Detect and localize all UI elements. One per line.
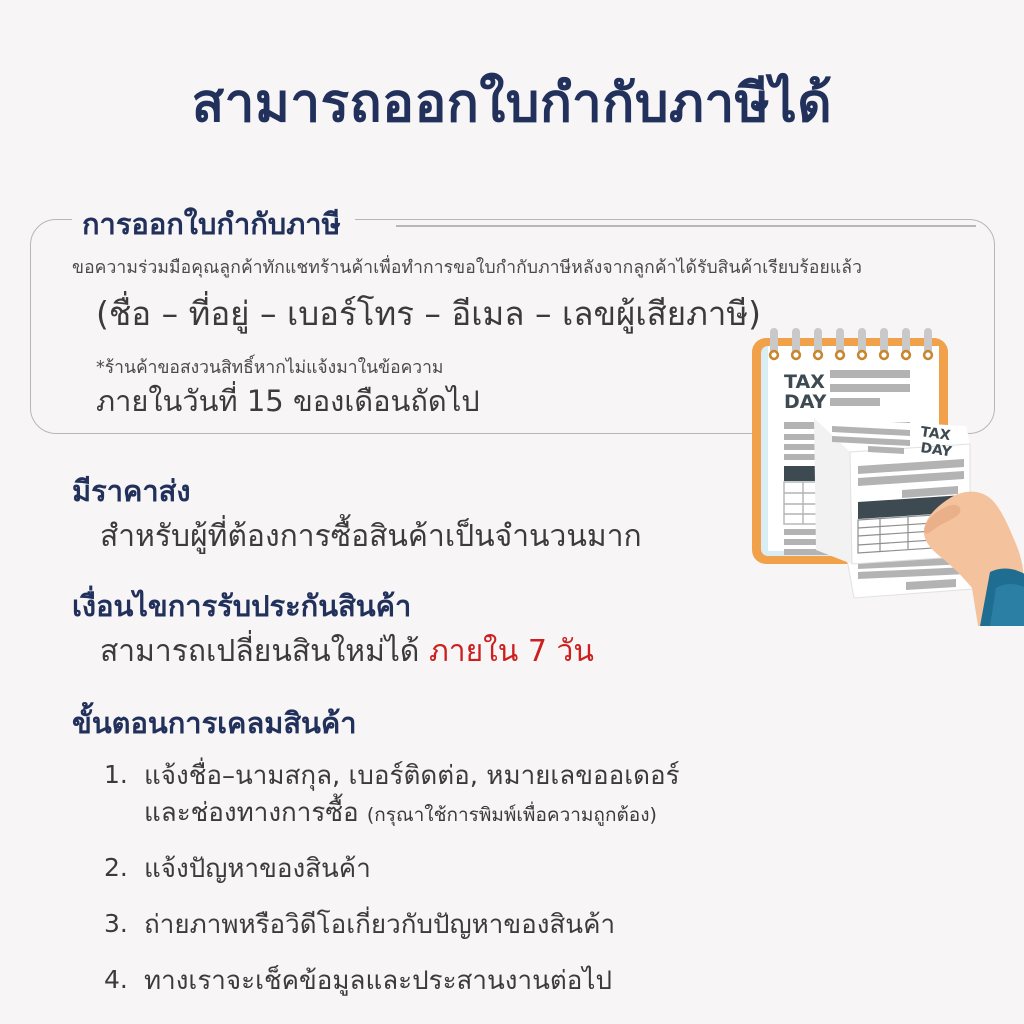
list-item-number: 3. — [104, 907, 144, 944]
claim-steps-list: 1. แจ้งชื่อ–นามสกุล, เบอร์ติดต่อ, หมายเล… — [104, 758, 744, 1019]
list-item: 4. ทางเราจะเช็คข้อมูลและประสานงานต่อไป — [104, 963, 744, 1000]
list-item: 1. แจ้งชื่อ–นามสกุล, เบอร์ติดต่อ, หมายเล… — [104, 758, 744, 832]
box-heading-rule — [396, 225, 976, 227]
tax-invoice-fields: (ชื่อ – ที่อยู่ – เบอร์โทร – อีเมล – เลข… — [96, 293, 761, 336]
section-claim: ขั้นตอนการเคลมสินค้า — [72, 705, 357, 743]
list-item-text: แจ้งชื่อ–นามสกุล, เบอร์ติดต่อ, หมายเลขออ… — [144, 758, 680, 832]
tax-invoice-deadline: ภายในวันที่ 15 ของเดือนถัดไป — [96, 383, 480, 421]
warranty-body-highlight: ภายใน 7 วัน — [429, 634, 594, 669]
list-item-line2-main: และช่องทางการซื้อ — [144, 798, 359, 828]
list-item-text: ทางเราจะเช็คข้อมูลและประสานงานต่อไป — [144, 963, 612, 1000]
list-item-line2: และช่องทางการซื้อ (กรุณาใช้การพิมพ์เพื่อ… — [144, 795, 680, 832]
list-item-number: 4. — [104, 963, 144, 1000]
tax-invoice-box-heading: การออกใบกำกับภาษี — [72, 206, 355, 244]
list-item: 2. แจ้งปัญหาของสินค้า — [104, 851, 744, 888]
notepad-tax-label: TAX — [784, 371, 825, 393]
infographic-canvas: สามารถออกใบกำกับภาษีได้ การออกใบกำกับภาษ… — [0, 0, 1024, 1024]
section-wholesale: มีราคาส่ง สำหรับผู้ที่ต้องการซื้อสินค้าเ… — [72, 473, 642, 557]
tax-invoice-note: ขอความร่วมมือคุณลูกค้าทักแชทร้านค้าเพื่อ… — [72, 256, 982, 281]
section-warranty-heading: เงื่อนไขการรับประกันสินค้า — [72, 588, 594, 626]
section-wholesale-heading: มีราคาส่ง — [72, 473, 642, 511]
list-item-note: (กรุณาใช้การพิมพ์เพื่อความถูกต้อง) — [367, 804, 657, 826]
list-item-line1: แจ้งชื่อ–นามสกุล, เบอร์ติดต่อ, หมายเลขออ… — [144, 758, 680, 795]
section-warranty: เงื่อนไขการรับประกันสินค้า สามารถเปลี่ยน… — [72, 588, 594, 672]
list-item-text: แจ้งปัญหาของสินค้า — [144, 851, 371, 888]
section-warranty-body: สามารถเปลี่ยนสินใหม่ได้ ภายใน 7 วัน — [100, 632, 594, 673]
section-wholesale-body: สำหรับผู้ที่ต้องการซื้อสินค้าเป็นจำนวนมา… — [100, 517, 642, 558]
tax-day-clipboard-illustration: TAX DAY — [728, 326, 1024, 626]
tax-invoice-disclaimer: *ร้านค้าขอสงวนสิทธิ์หากไม่แจ้งมาในข้อควา… — [96, 356, 443, 381]
section-claim-heading: ขั้นตอนการเคลมสินค้า — [72, 705, 357, 743]
list-item-number: 1. — [104, 758, 144, 832]
list-item-text: ถ่ายภาพหรือวิดีโอเกี่ยวกับปัญหาของสินค้า — [144, 907, 615, 944]
list-item-number: 2. — [104, 851, 144, 888]
page-title: สามารถออกใบกำกับภาษีได้ — [0, 72, 1024, 136]
notepad-day-label: DAY — [784, 391, 827, 413]
warranty-body-prefix: สามารถเปลี่ยนสินใหม่ได้ — [100, 634, 429, 669]
list-item: 3. ถ่ายภาพหรือวิดีโอเกี่ยวกับปัญหาของสิน… — [104, 907, 744, 944]
